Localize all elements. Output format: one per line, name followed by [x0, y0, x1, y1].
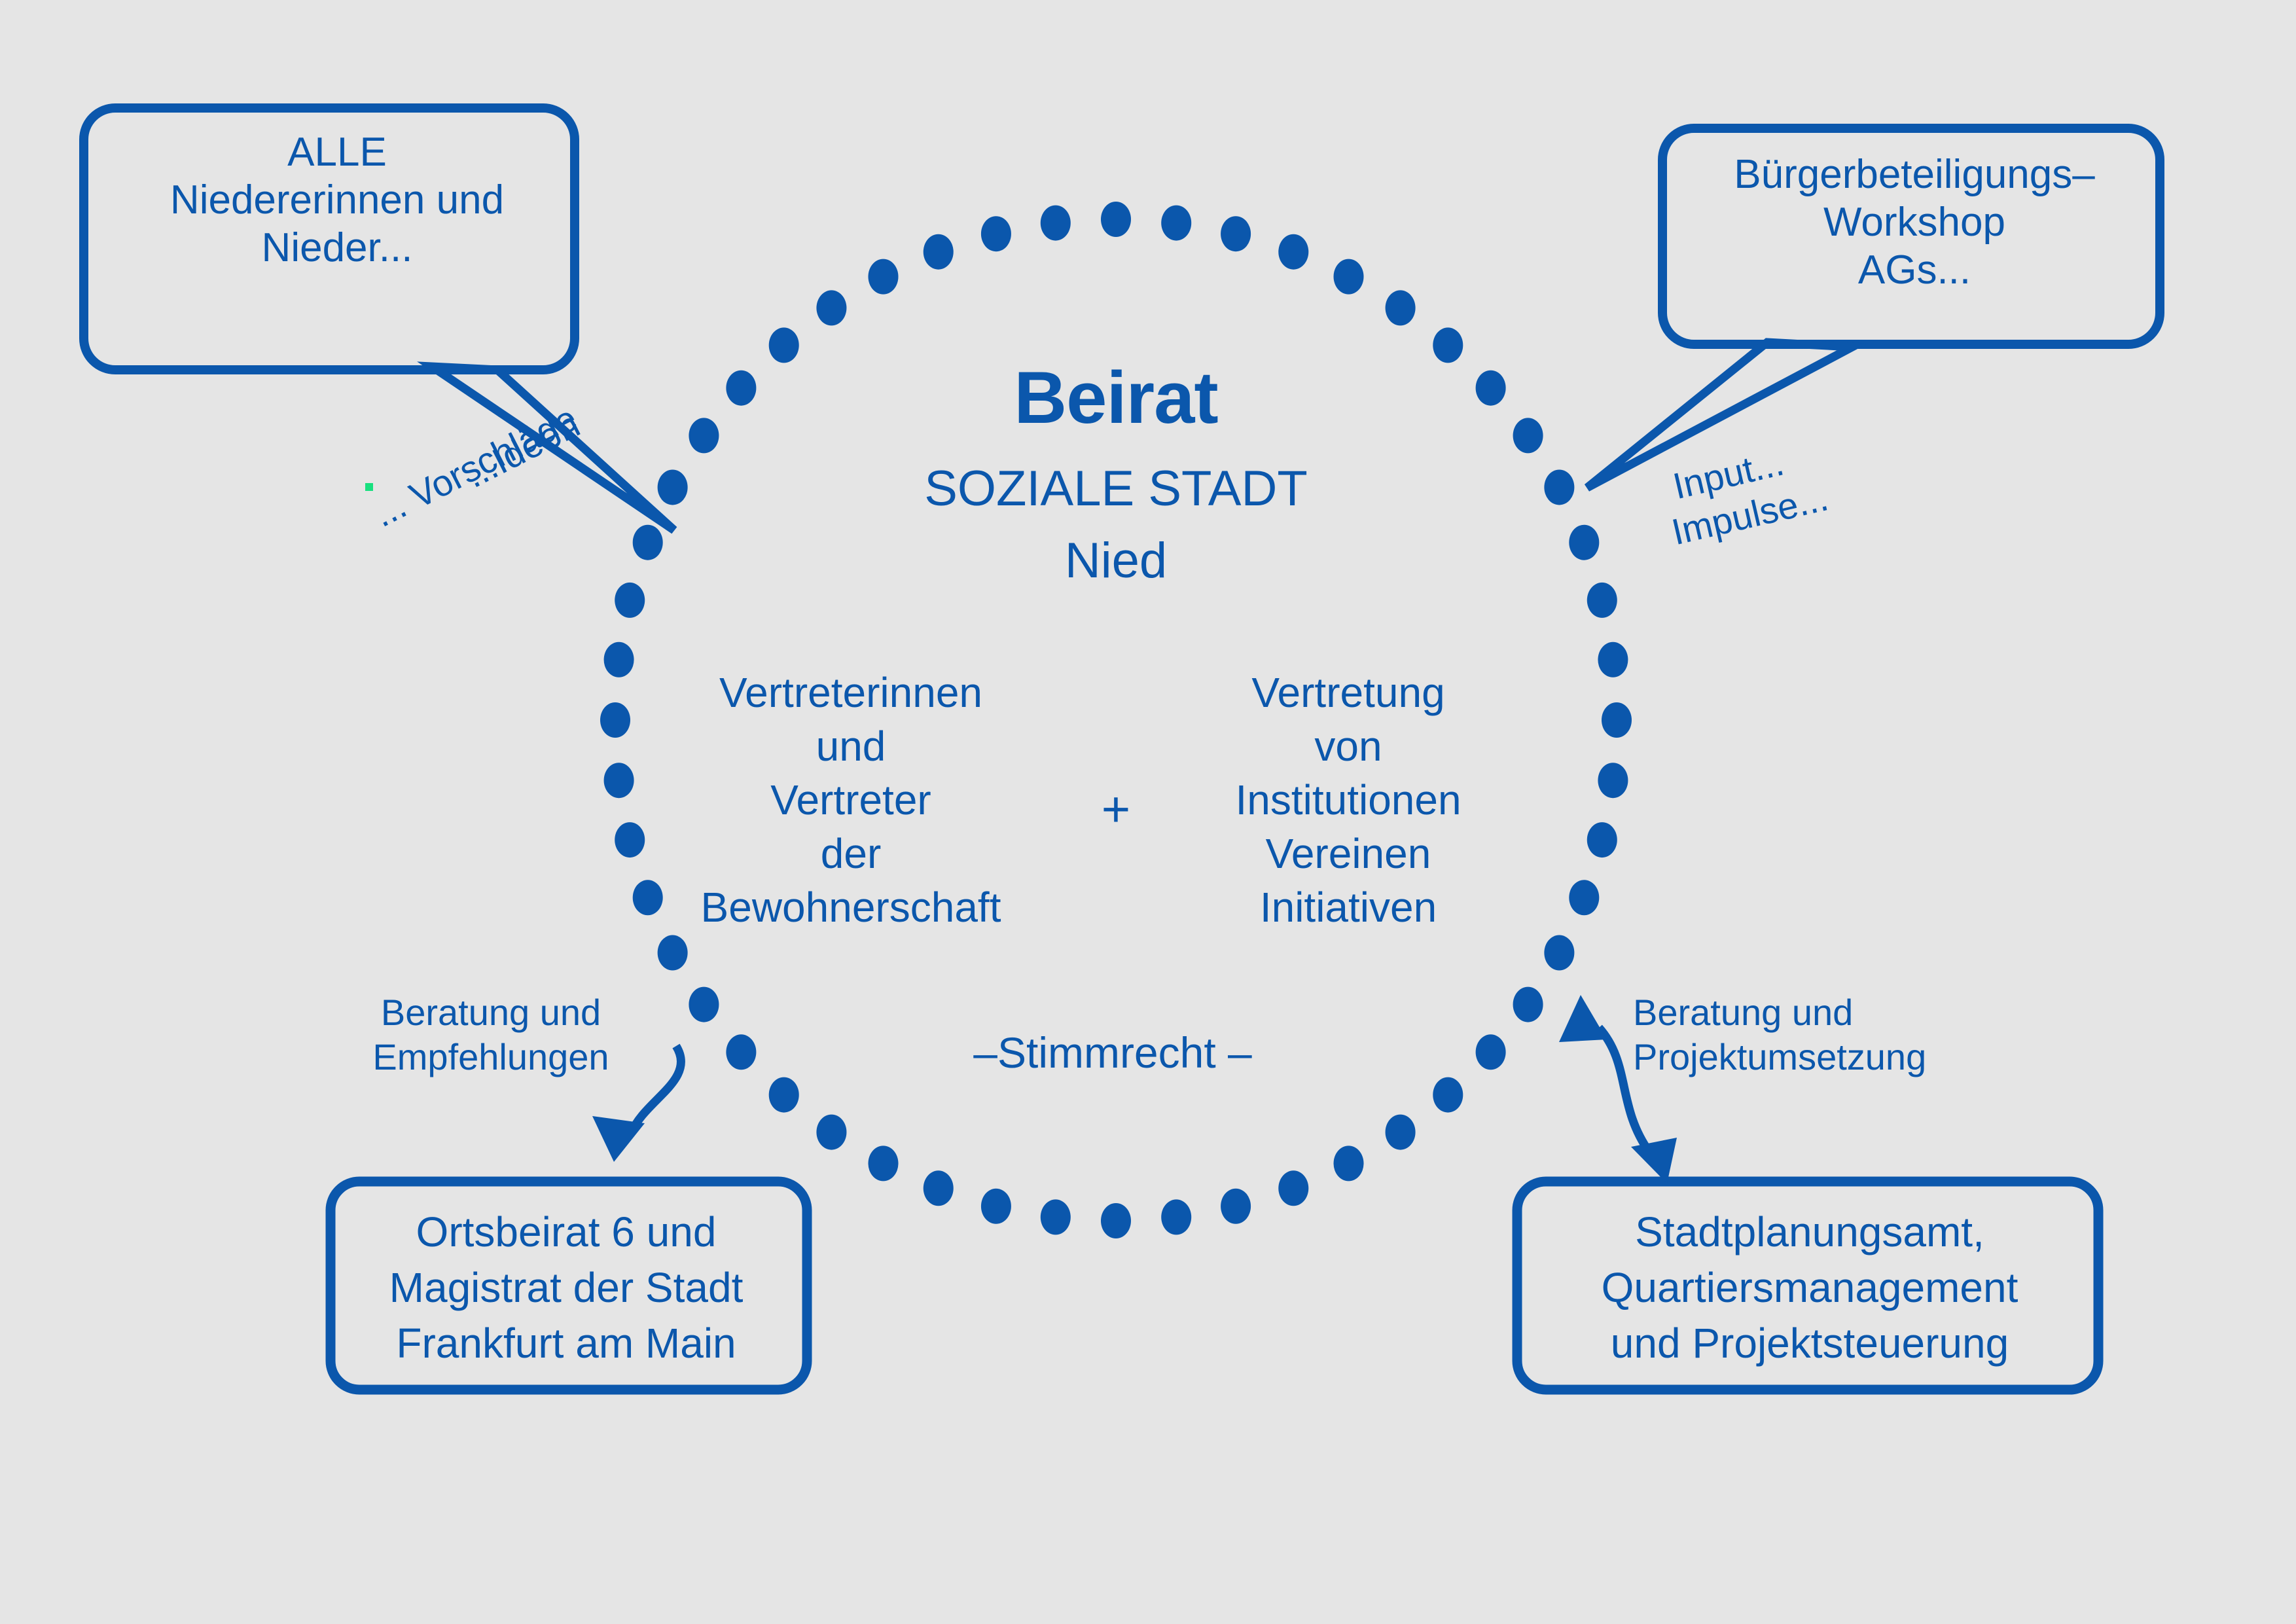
- circle-dot: [868, 1146, 898, 1181]
- box-ortsbeirat-label: Ortsbeirat 6 und Magistrat der Stadt Fra…: [337, 1204, 795, 1371]
- edge-label-beratung-projektumsetzung: Beratung und Projektumsetzung: [1633, 990, 1960, 1080]
- bubble-citizens-label: ALLE Niedererinnen und Nieder...: [98, 128, 576, 272]
- circle-dot: [1221, 1189, 1251, 1224]
- center-footer-stimmrecht: –Stimmrecht –: [903, 1028, 1322, 1079]
- circle-dot: [981, 216, 1011, 251]
- green-artifact-dot: [365, 483, 373, 491]
- center-plus-symbol: +: [1073, 780, 1158, 839]
- circle-dot: [981, 1189, 1011, 1224]
- circle-dot: [1569, 525, 1599, 560]
- circle-dot: [615, 583, 645, 618]
- circle-dot: [689, 987, 719, 1022]
- circle-dot: [1569, 880, 1599, 915]
- center-column-left: Vertreterinnen und Vertreter der Bewohne…: [674, 666, 1028, 935]
- circle-dot: [1544, 935, 1574, 971]
- circle-dot: [1598, 642, 1628, 677]
- circle-dot: [1161, 1199, 1191, 1235]
- diagram-canvas: ALLE Niedererinnen und Nieder... Bürgerb…: [0, 0, 2296, 1624]
- circle-dot: [1041, 1199, 1071, 1235]
- circle-dot: [924, 1170, 954, 1206]
- circle-dot: [604, 763, 634, 798]
- bubble-participation-label: Bürgerbeteiligungs– Workshop AGs...: [1676, 151, 2153, 294]
- circle-dot: [689, 418, 719, 453]
- circle-dot: [1101, 202, 1131, 237]
- circle-dot: [924, 234, 954, 270]
- circle-dot: [1513, 418, 1543, 453]
- page-subtitle-line1: SOZIALE STADT: [789, 460, 1443, 518]
- circle-dot: [1513, 987, 1543, 1022]
- circle-dot: [816, 290, 846, 325]
- circle-dot: [633, 880, 663, 915]
- circle-dot: [1598, 763, 1628, 798]
- circle-dot: [1433, 1077, 1463, 1113]
- circle-dot: [726, 370, 756, 406]
- circle-dot: [769, 1077, 799, 1113]
- circle-dot: [1278, 1170, 1308, 1206]
- circle-dot: [600, 702, 630, 738]
- circle-dot: [1221, 216, 1251, 251]
- page-title: Beirat: [789, 355, 1443, 441]
- circle-dot: [1334, 259, 1364, 295]
- circle-dot: [1161, 206, 1191, 241]
- center-column-right: Vertretung von Institutionen Vereinen In…: [1198, 666, 1499, 935]
- circle-dot: [1386, 1115, 1416, 1150]
- circle-dot: [726, 1034, 756, 1070]
- box-stadtplanungsamt-label: Stadtplanungsamt, Quartiersmanagement un…: [1525, 1204, 2094, 1371]
- circle-dot: [1386, 290, 1416, 325]
- circle-dot: [1101, 1203, 1131, 1238]
- circle-dot: [604, 642, 634, 677]
- circle-dot: [658, 469, 688, 505]
- circle-dot: [615, 822, 645, 857]
- circle-dot: [1041, 206, 1071, 241]
- circle-dot: [1476, 1034, 1506, 1070]
- circle-dot: [816, 1115, 846, 1150]
- circle-dot: [1587, 822, 1617, 857]
- circle-dot: [1587, 583, 1617, 618]
- circle-dot: [1334, 1146, 1364, 1181]
- page-subtitle-line2: Nied: [789, 532, 1443, 590]
- circle-dot: [658, 935, 688, 971]
- edge-label-beratung-empfehlungen: Beratung und Empfehlungen: [353, 990, 628, 1080]
- circle-dot: [1278, 234, 1308, 270]
- circle-dot: [633, 525, 663, 560]
- circle-dot: [1476, 370, 1506, 406]
- circle-dot: [1602, 702, 1632, 738]
- circle-dot: [1544, 469, 1574, 505]
- circle-dot: [868, 259, 898, 295]
